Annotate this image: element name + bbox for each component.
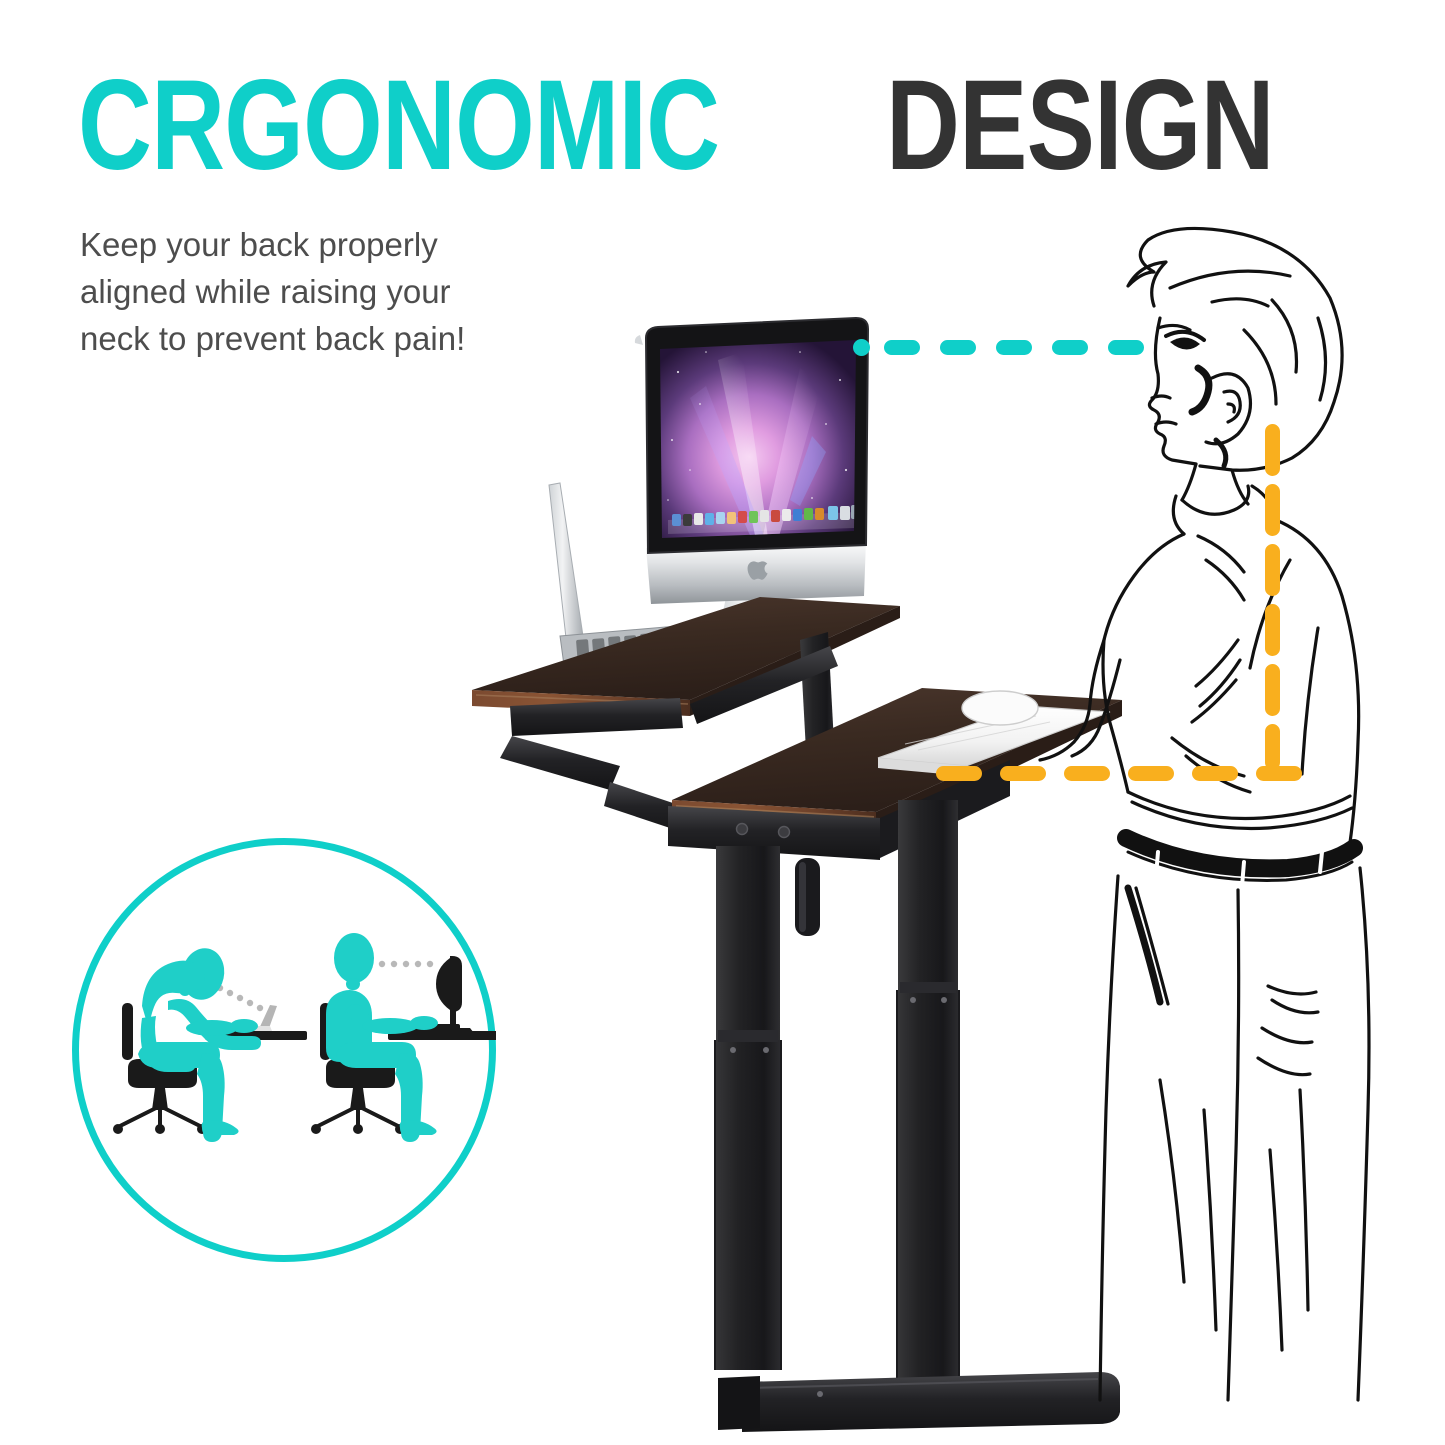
wrist-dash (1192, 766, 1238, 781)
desk-legs (714, 800, 960, 1382)
wrist-dash (1128, 766, 1174, 781)
eye-line-dash (940, 340, 976, 355)
desk-riser-shelf (472, 597, 900, 716)
wrist-dash (1256, 766, 1302, 781)
spine-dash (1265, 604, 1280, 656)
eye-line-dash (996, 340, 1032, 355)
spine-dash (1265, 424, 1280, 476)
bad-posture-figure (113, 944, 307, 1142)
desk-base-foot (718, 1372, 1120, 1432)
eye-line-origin-dot (853, 339, 870, 356)
eye-line-dash (884, 340, 920, 355)
wrist-dash (936, 766, 982, 781)
posture-comparison-badge (72, 838, 496, 1262)
wrist-dash (1000, 766, 1046, 781)
eye-line-dash (1052, 340, 1088, 355)
infographic-canvas: CRGONOMICDESIGN Keep your back properly … (0, 0, 1445, 1445)
spine-dash (1265, 484, 1280, 536)
spine-dash (1265, 544, 1280, 596)
spine-dash (1265, 724, 1280, 770)
good-posture-figure (311, 933, 496, 1142)
spine-dash (1265, 664, 1280, 716)
wrist-dash (1064, 766, 1110, 781)
eye-line-dash (1108, 340, 1144, 355)
standing-man-line-art (1040, 228, 1369, 1400)
